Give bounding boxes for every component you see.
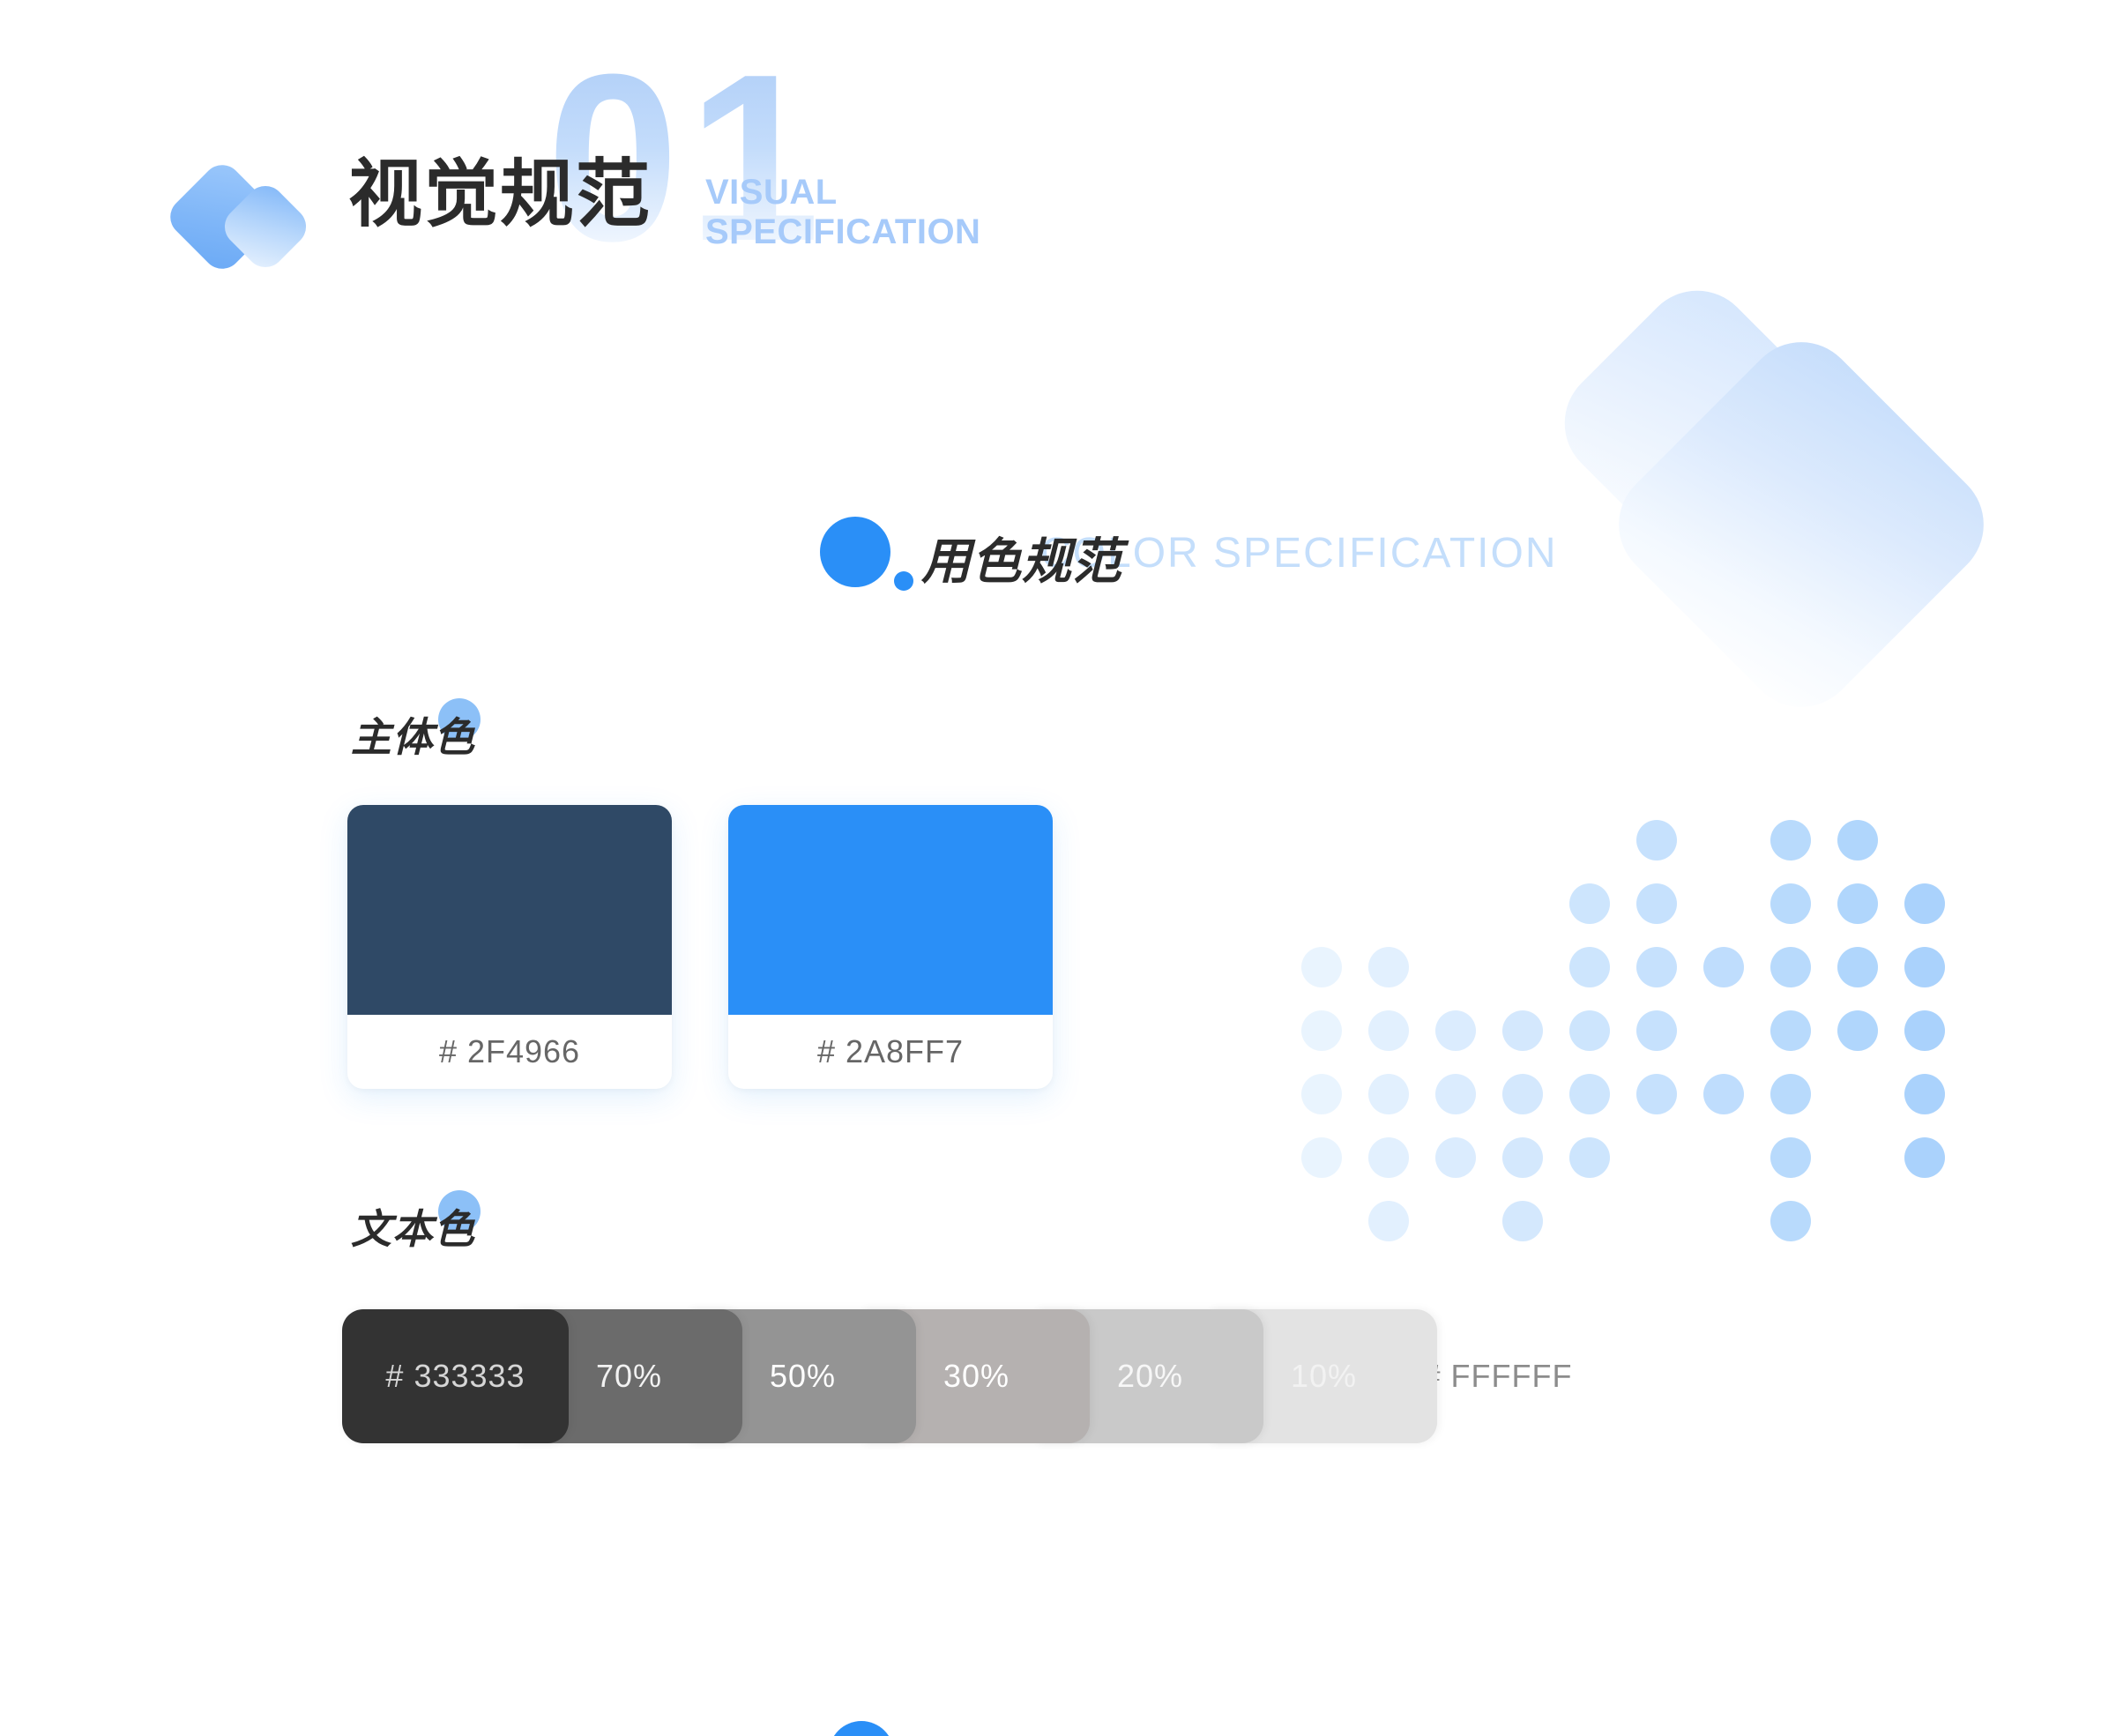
matrix-dot [1569,1137,1610,1178]
subheading-text-colors-label: 文本色 [351,1197,475,1255]
matrix-dot [1502,1201,1543,1241]
matrix-dot [1636,1010,1677,1051]
page-subtitle-line1: VISUAL [705,173,980,212]
matrix-dot [1904,1137,1945,1178]
rounded-square-small-icon [1541,267,1853,579]
matrix-dot [1770,1137,1811,1178]
matrix-dot [1301,947,1342,987]
matrix-dot [1368,1137,1409,1178]
matrix-dot [1435,1010,1476,1051]
matrix-dot [1368,1010,1409,1051]
section-heading-zh: 用色规范 [921,522,1122,593]
matrix-dot [1770,820,1811,861]
page-header: 01 视觉规范 VISUAL SPECIFICATION [0,0,2116,300]
page-title: 视觉规范 [348,157,652,231]
matrix-dot [1770,1201,1811,1241]
matrix-dot [1569,947,1610,987]
matrix-dot [1435,1074,1476,1114]
matrix-dot [1502,1074,1543,1114]
matrix-dot [1368,1201,1409,1241]
color-swatch-hex-label: # 2F4966 [347,1015,672,1089]
matrix-dot [1904,883,1945,924]
matrix-dot [1770,947,1811,987]
matrix-dot [1636,1074,1677,1114]
text-color-scale: # 33333370%50%30%20%10%# FFFFFF [342,1309,1603,1443]
page-subtitle-line2: SPECIFICATION [705,212,980,252]
matrix-dot [1368,947,1409,987]
matrix-dot [1703,947,1744,987]
color-swatch-block [728,805,1053,1015]
matrix-dot [1904,1074,1945,1114]
matrix-dot [1770,883,1811,924]
matrix-dot [1301,1137,1342,1178]
color-swatch-card[interactable]: # 2A8FF7 [728,805,1053,1089]
section-bullet-dot-icon [894,571,913,591]
matrix-dot [1301,1074,1342,1114]
matrix-dot [1569,1010,1610,1051]
matrix-dot [1569,883,1610,924]
matrix-dot [1636,947,1677,987]
matrix-dot [1569,1074,1610,1114]
color-swatch-card[interactable]: # 2F4966 [347,805,672,1089]
double-diamond-logo-icon [176,159,317,273]
matrix-dot [1770,1074,1811,1114]
rounded-square-large-icon [1596,319,2008,731]
dot-matrix-pattern-icon [1234,820,1975,1226]
matrix-dot [1636,883,1677,924]
matrix-dot [1837,1010,1878,1051]
color-swatch-hex-label: # 2A8FF7 [728,1015,1053,1089]
subheading-text-colors: 文本色 [351,1197,475,1259]
page-root: 01 视觉规范 VISUAL SPECIFICATION COLOR SPECI… [0,0,2116,1736]
section-bullet-circle-icon [820,517,890,587]
next-section-bullet-icon [829,1721,894,1736]
page-subtitle-en: VISUAL SPECIFICATION [705,173,980,252]
matrix-dot [1904,1010,1945,1051]
subheading-main-colors: 主体色 [351,705,475,767]
matrix-dot [1502,1010,1543,1051]
matrix-dot [1770,1010,1811,1051]
matrix-dot [1837,947,1878,987]
matrix-dot [1703,1074,1744,1114]
color-swatch-block [347,805,672,1015]
text-color-step[interactable]: # 333333 [342,1309,569,1443]
matrix-dot [1502,1137,1543,1178]
matrix-dot [1837,820,1878,861]
matrix-dot [1368,1074,1409,1114]
subheading-main-colors-label: 主体色 [351,705,475,764]
matrix-dot [1904,947,1945,987]
matrix-dot [1837,883,1878,924]
matrix-dot [1301,1010,1342,1051]
matrix-dot [1636,820,1677,861]
matrix-dot [1435,1137,1476,1178]
